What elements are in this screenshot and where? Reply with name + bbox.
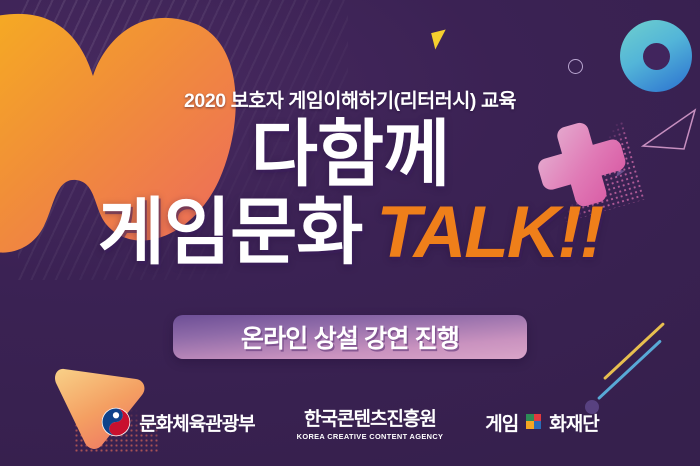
logo-kocca[interactable]: 한국콘텐츠진흥원 KOREA CREATIVE CONTENT AGENCY bbox=[297, 404, 444, 441]
online-lecture-badge[interactable]: 온라인 상설 강연 진행 bbox=[173, 315, 527, 359]
headline-talk: TALK!! bbox=[376, 192, 602, 273]
color-squares-icon bbox=[526, 414, 541, 429]
logo-gcf-label-before: 게임 bbox=[485, 409, 518, 436]
logo-kocca-label-ko: 한국콘텐츠진흥원 bbox=[304, 404, 436, 431]
headline-korean: 게임문화 bbox=[98, 192, 363, 273]
sponsor-logo-row: 문화체육관광부 한국콘텐츠진흥원 KOREA CREATIVE CONTENT … bbox=[0, 398, 700, 446]
logo-kocca-label-en: KOREA CREATIVE CONTENT AGENCY bbox=[297, 432, 444, 441]
outline-circle-icon bbox=[568, 59, 583, 74]
promo-banner: 2020 보호자 게임이해하기(리터러시) 교육 다함께 게임문화TALK!! … bbox=[0, 0, 700, 466]
teal-donut-icon bbox=[620, 20, 692, 92]
badge-label: 온라인 상설 강연 진행 bbox=[241, 319, 459, 355]
logo-gcf-label-after: 화재단 bbox=[549, 409, 598, 436]
headline-line-1: 다함께 bbox=[0, 118, 700, 191]
taeguk-icon bbox=[101, 407, 131, 437]
logo-gcf[interactable]: 게임 화재단 bbox=[485, 409, 598, 436]
logo-mcst[interactable]: 문화체육관광부 bbox=[101, 407, 254, 437]
logo-mcst-label: 문화체육관광부 bbox=[139, 409, 254, 436]
headline-line-2: 게임문화TALK!! bbox=[0, 196, 700, 269]
banner-subtitle: 2020 보호자 게임이해하기(리터러시) 교육 bbox=[0, 84, 700, 113]
